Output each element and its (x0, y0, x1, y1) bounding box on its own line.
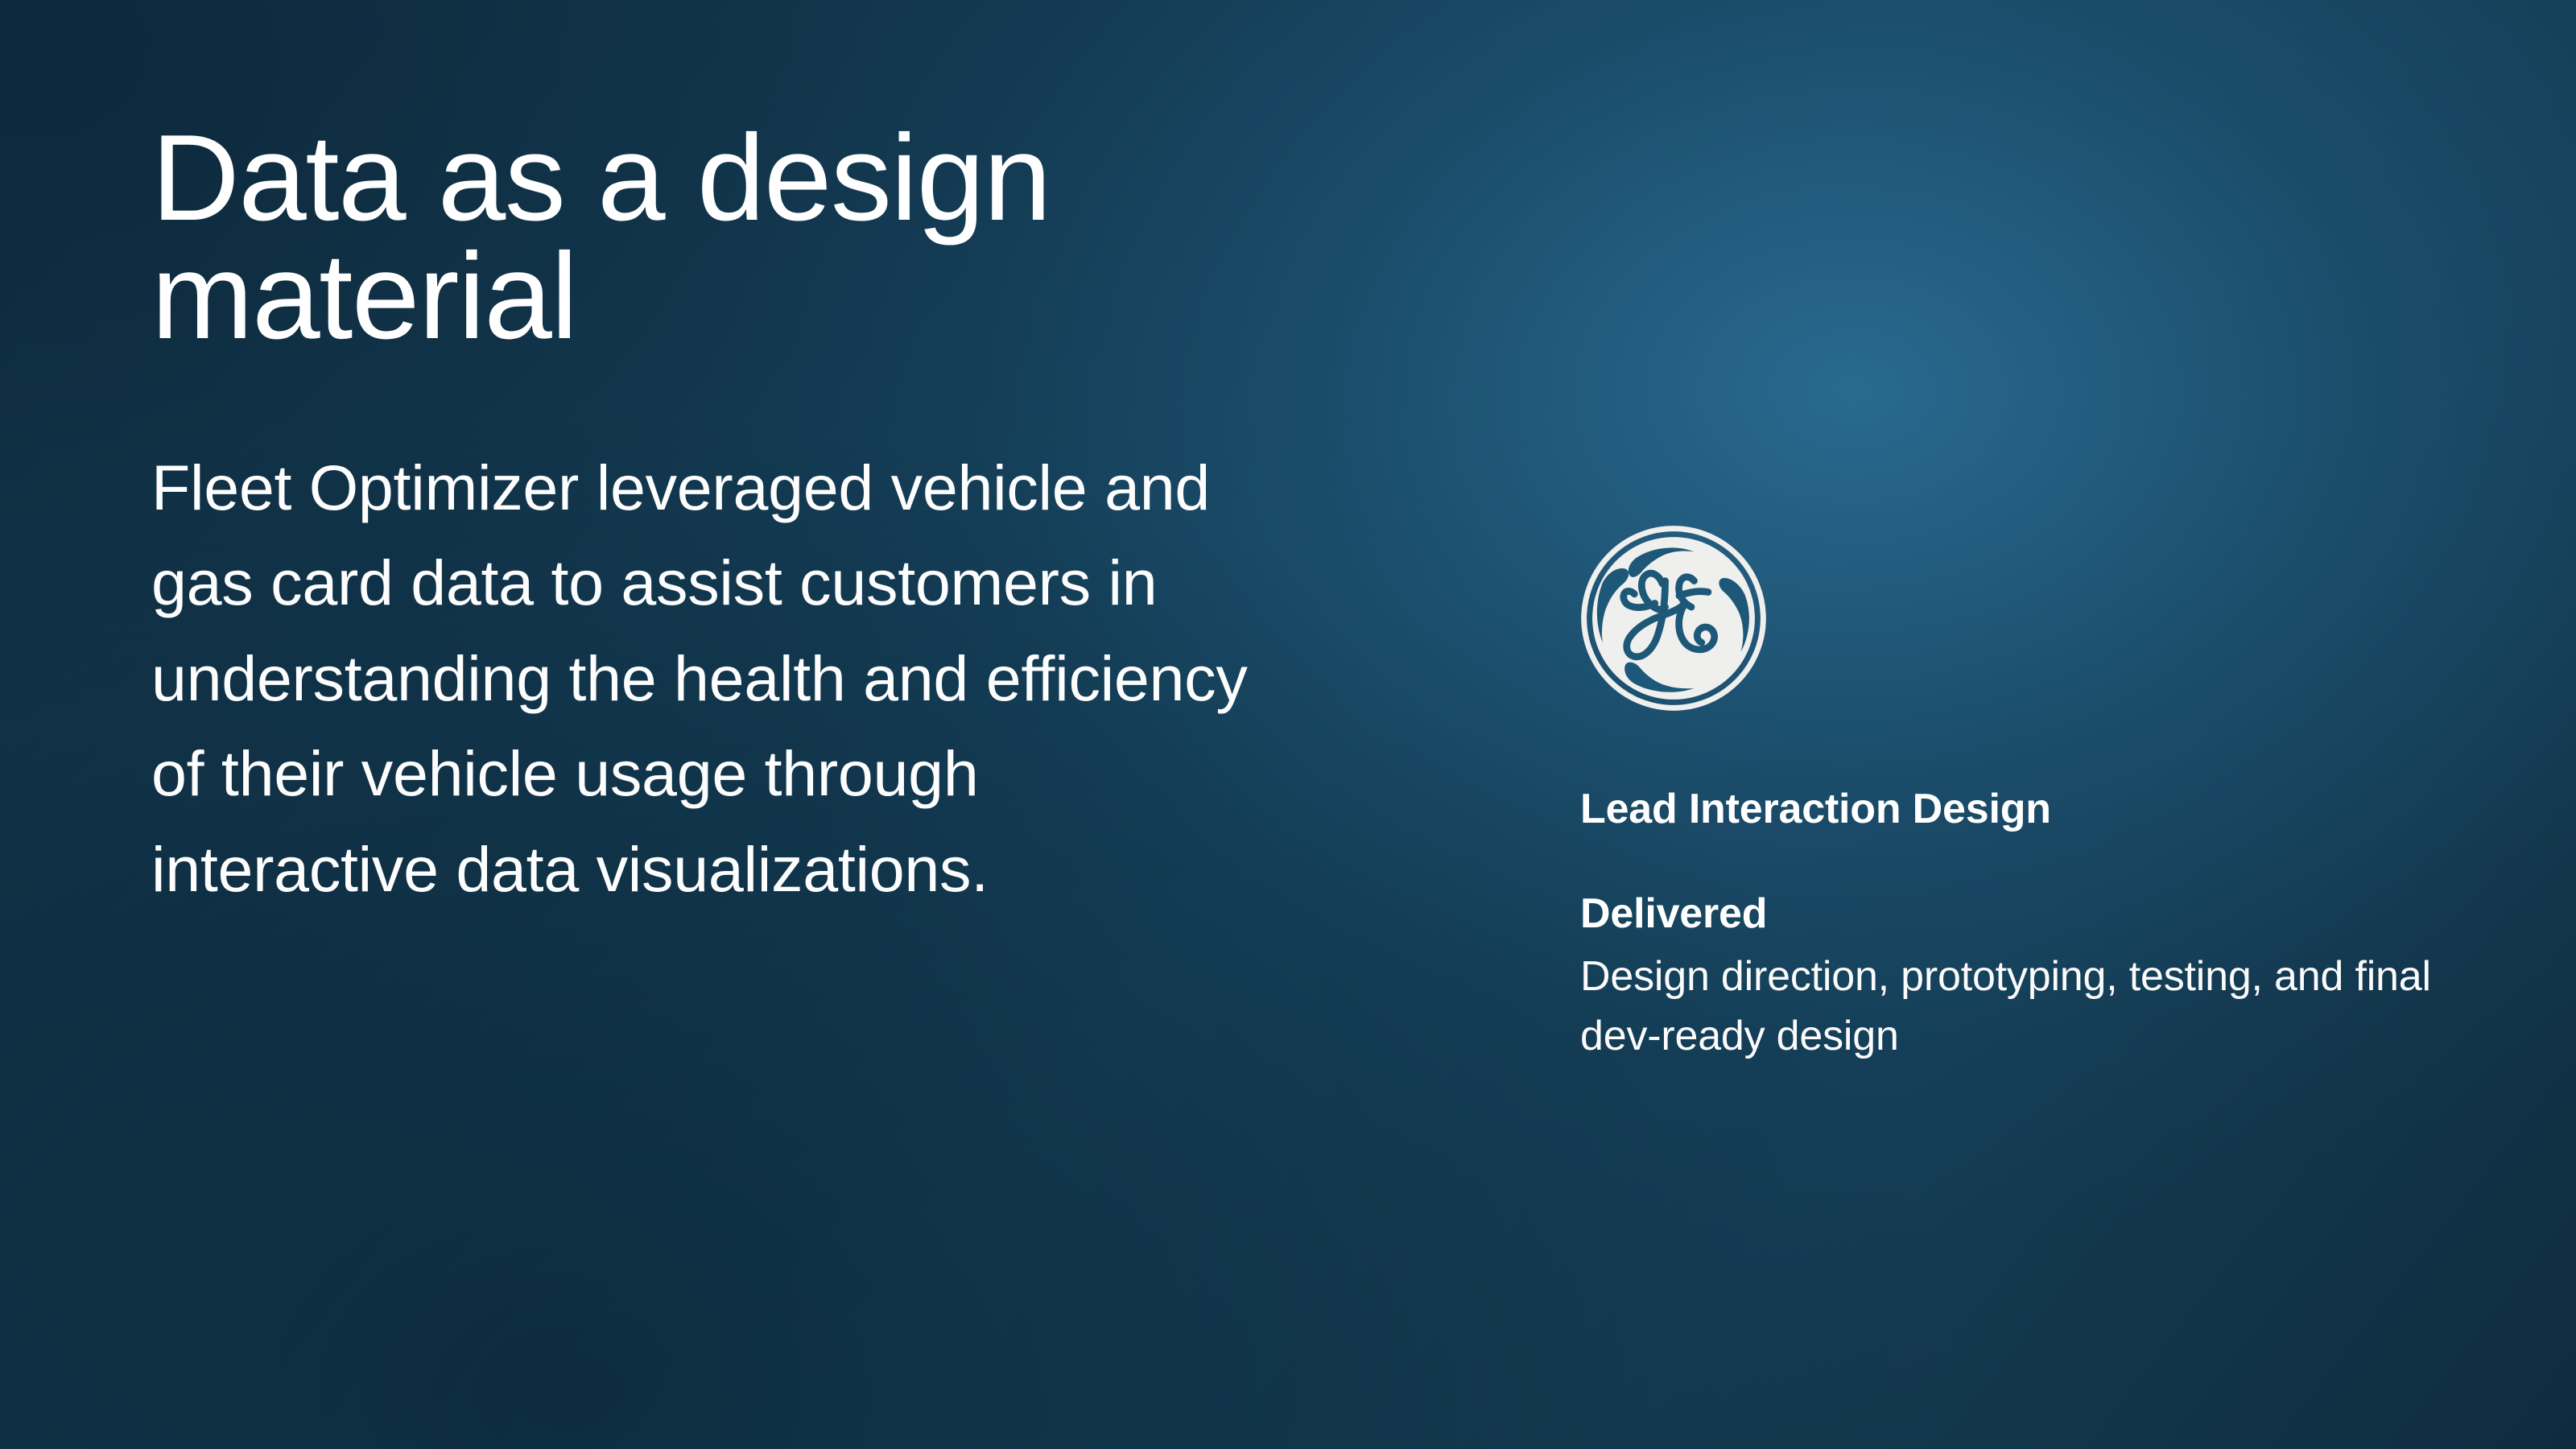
left-column: Data as a design material Fleet Optimize… (151, 119, 1343, 917)
slide-title: Data as a design material (151, 119, 1343, 357)
presentation-slide: Data as a design material Fleet Optimize… (0, 0, 2576, 1449)
delivered-items: Design direction, prototyping, testing, … (1580, 939, 2482, 1067)
right-column: Lead Interaction Design Delivered Design… (1580, 525, 2482, 1066)
slide-content: Data as a design material Fleet Optimize… (0, 0, 2576, 1449)
delivered-label: Delivered (1580, 834, 2482, 939)
ge-monogram-logo (1580, 525, 1767, 712)
role-title: Lead Interaction Design (1580, 712, 2482, 834)
slide-body-paragraph: Fleet Optimizer leveraged vehicle and ga… (151, 357, 1278, 918)
